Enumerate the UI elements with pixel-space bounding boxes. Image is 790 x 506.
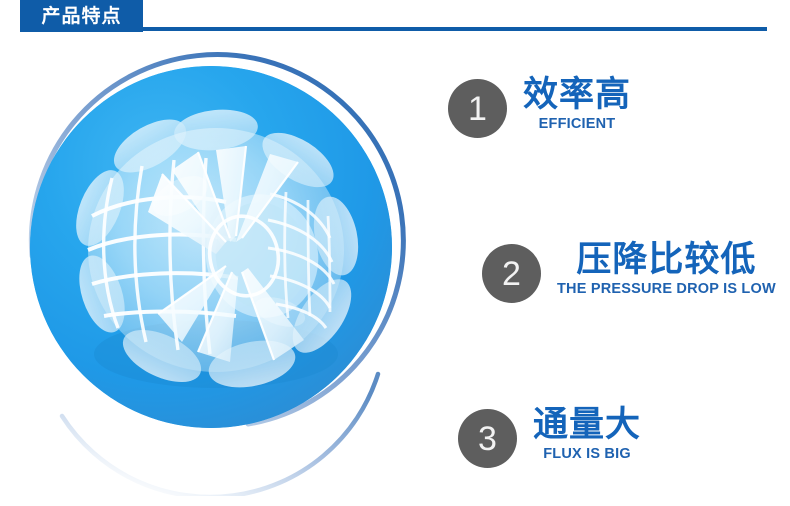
feature-title-en-3: FLUX IS BIG <box>543 446 631 463</box>
section-title-badge: 产品特点 <box>20 0 143 32</box>
feature-number-badge-2: 2 <box>482 244 541 303</box>
feature-number-label-1: 1 <box>468 92 487 126</box>
feature-title-cn-1: 效率高 <box>523 76 631 115</box>
feature-item-1: 1 效率高 EFFICIENT <box>448 76 631 138</box>
feature-text-block-1: 效率高 EFFICIENT <box>523 76 631 134</box>
feature-list: 1 效率高 EFFICIENT 2 压降比较低 THE PRESSURE DRO… <box>420 44 790 506</box>
bio-ball-illustration <box>30 66 392 428</box>
feature-number-label-3: 3 <box>478 422 497 456</box>
feature-item-3: 3 通量大 FLUX IS BIG <box>458 406 641 468</box>
feature-text-block-2: 压降比较低 THE PRESSURE DROP IS LOW <box>557 241 776 299</box>
feature-title-cn-3: 通量大 <box>533 406 641 445</box>
feature-item-2: 2 压降比较低 THE PRESSURE DROP IS LOW <box>482 241 776 303</box>
feature-number-badge-3: 3 <box>458 409 517 468</box>
feature-text-block-3: 通量大 FLUX IS BIG <box>533 406 641 464</box>
product-photo-panel <box>0 36 420 506</box>
feature-title-en-2: THE PRESSURE DROP IS LOW <box>557 281 776 298</box>
header-divider-line <box>143 27 767 31</box>
product-photo-circle <box>30 66 392 428</box>
product-features-page: 产品特点 <box>0 0 790 506</box>
feature-number-label-2: 2 <box>502 257 521 291</box>
feature-title-cn-2: 压降比较低 <box>576 241 756 280</box>
feature-title-en-1: EFFICIENT <box>539 116 616 133</box>
feature-number-badge-1: 1 <box>448 79 507 138</box>
section-title-label: 产品特点 <box>41 7 121 26</box>
